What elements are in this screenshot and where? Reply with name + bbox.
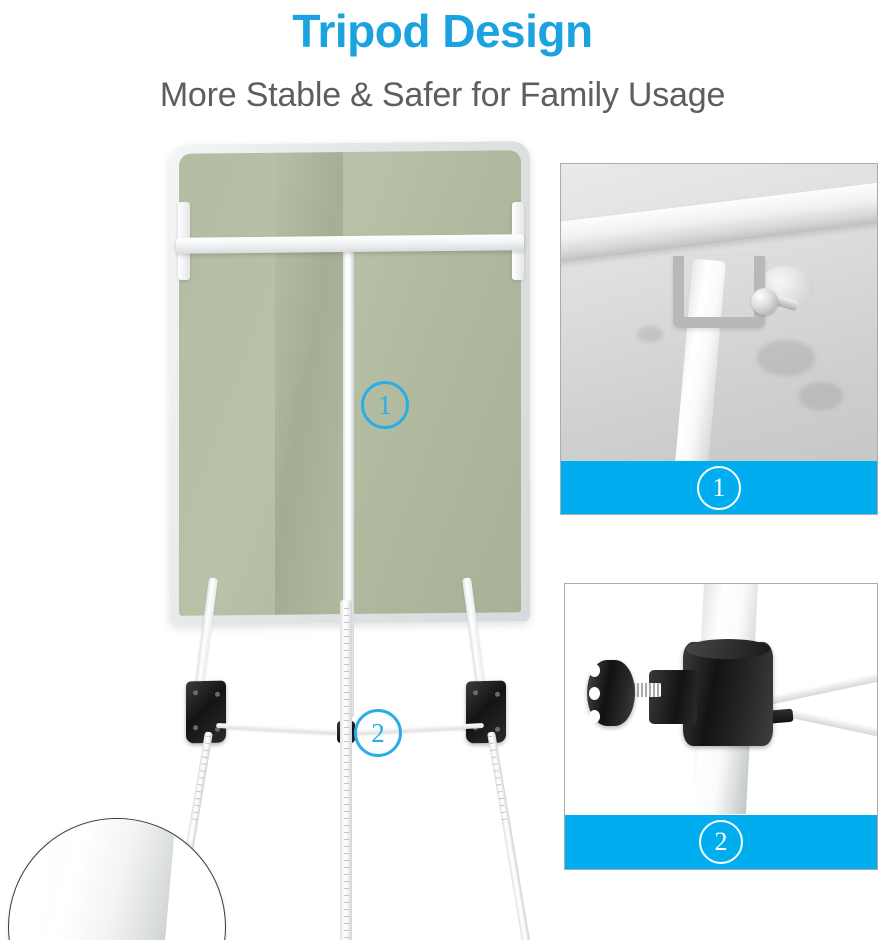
detail-panel-2: 2: [564, 583, 878, 870]
detail-panel-2-caption-bar: 2: [565, 815, 877, 869]
detail-panel-1-marker: 1: [697, 466, 741, 510]
corner-bracket-right: [466, 681, 506, 744]
detail-frame-edge: [561, 181, 877, 263]
detail-photo-knob-clamp: [565, 584, 877, 814]
product-infographic: Tripod Design More Stable & Safer for Fa…: [0, 0, 885, 940]
detail-panel-2-marker: 2: [699, 820, 743, 864]
detail-mount-bracket: [673, 256, 765, 328]
detail-photo-bracket-screw: [561, 164, 877, 463]
center-pole-height-scale: [344, 608, 349, 940]
marker-2[interactable]: 2: [354, 709, 402, 757]
magnified-leg-tube: [37, 818, 178, 940]
board-sheen: [275, 152, 343, 615]
header: Tripod Design More Stable & Safer for Fa…: [0, 0, 885, 130]
detail-panel-1: 1: [560, 163, 878, 515]
marker-1[interactable]: 1: [361, 381, 409, 429]
page-subtitle: More Stable & Safer for Family Usage: [0, 74, 885, 116]
detail-spreader-arm-upper: [767, 672, 877, 705]
page-title: Tripod Design: [0, 4, 885, 58]
detail-tightening-knob: [587, 660, 635, 726]
detail-screw-head: [751, 288, 778, 315]
detail-collar-lip: [686, 639, 770, 659]
spreader-arm-left: [216, 723, 350, 735]
detail-clamp-boss: [649, 670, 697, 724]
main-product-photo: 1 2 3: [0, 130, 560, 940]
detail-panel-1-caption-bar: 1: [561, 461, 877, 514]
